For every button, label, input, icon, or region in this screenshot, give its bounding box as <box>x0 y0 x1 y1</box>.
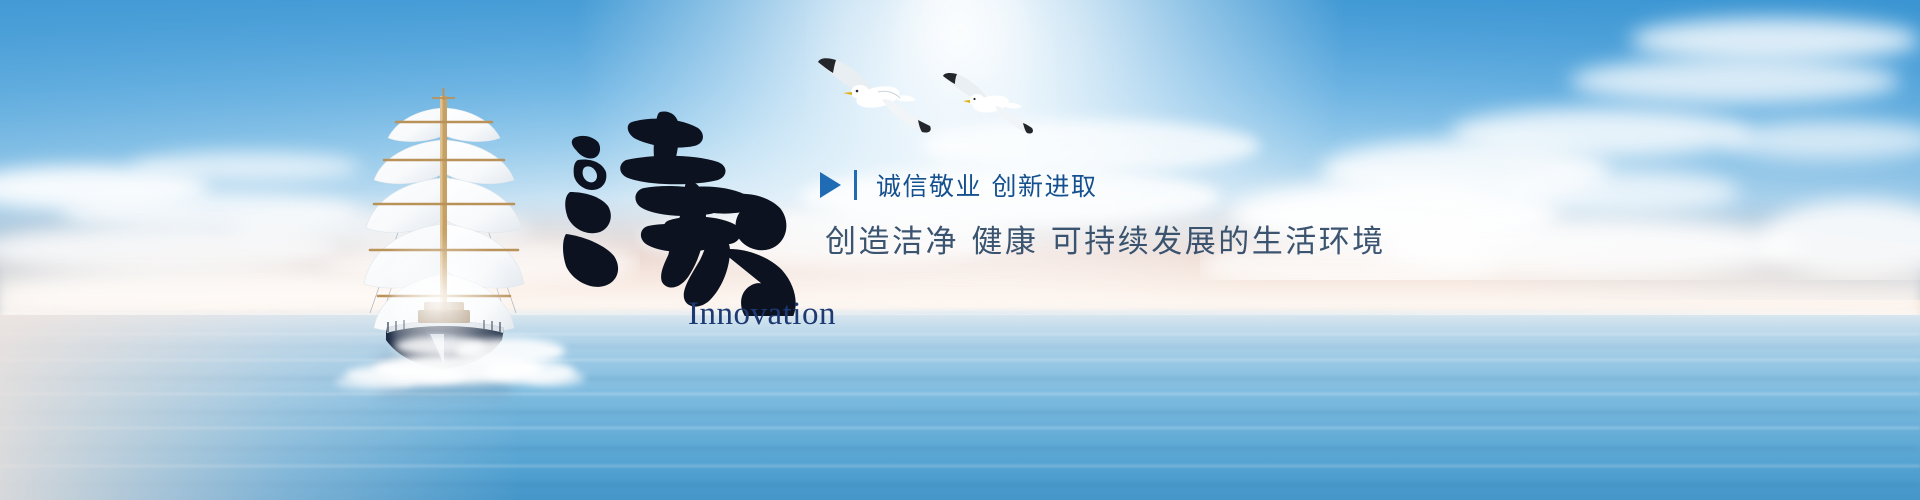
tagline-secondary: 创造洁净 健康 可持续发展的生活环境 <box>825 216 1386 261</box>
sea-background <box>0 315 1920 500</box>
vertical-divider <box>854 170 857 200</box>
calligraphy-title <box>548 96 838 316</box>
tagline-primary: 诚信敬业 创新进取 <box>876 167 1097 203</box>
calligraphy-subtitle: Innovation <box>688 296 836 333</box>
tagline-block: 诚信敬业 创新进取 创造洁净 健康 可持续发展的生活环境 <box>820 168 1386 261</box>
ship-wake-foam <box>335 330 575 396</box>
hero-banner: Innovation 诚信敬业 创新进取 创造洁净 健康 可持续发展的生活环境 <box>0 0 1920 500</box>
tagline-primary-row: 诚信敬业 创新进取 <box>820 168 1386 202</box>
seagull-right <box>938 68 1034 143</box>
play-triangle-icon <box>820 172 841 198</box>
sky-background <box>0 0 1920 320</box>
